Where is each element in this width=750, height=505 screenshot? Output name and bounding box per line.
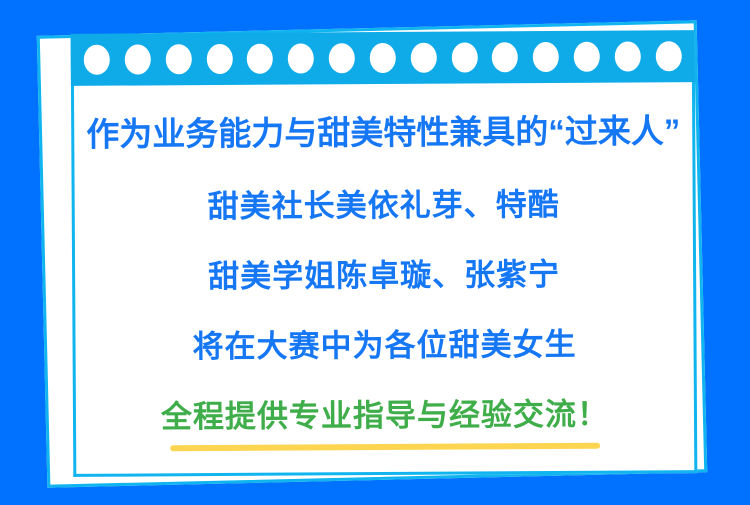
- punch-hole-icon: [329, 43, 355, 73]
- punch-hole-icon: [165, 44, 191, 74]
- card-text-body: 作为业务能力与甜美特性兼具的“过来人” 甜美社长美依礼芽、特酷 甜美学姐陈卓璇、…: [74, 85, 694, 474]
- card-header-strip: [71, 30, 695, 86]
- punch-hole-icon: [206, 44, 232, 74]
- highlight-underline: [170, 443, 600, 452]
- punch-hole-icon: [410, 43, 436, 73]
- headline-line-3: 甜美学姐陈卓璇、张紫宁: [75, 255, 693, 297]
- headline-line-2: 甜美社长美依礼芽、特酷: [75, 185, 693, 227]
- headline-line-4: 将在大赛中为各位甜美女生: [75, 325, 693, 367]
- punch-hole-icon: [247, 44, 273, 74]
- poster-canvas: 作为业务能力与甜美特性兼具的“过来人” 甜美社长美依礼芽、特酷 甜美学姐陈卓璇、…: [0, 0, 750, 505]
- punch-hole-icon: [84, 45, 110, 75]
- punch-hole-icon: [533, 42, 559, 72]
- headline-line-5-highlight: 全程提供专业指导与经验交流！: [76, 395, 694, 437]
- punch-hole-icon: [451, 42, 477, 72]
- punch-hole-icon: [288, 43, 314, 73]
- headline-line-1: 作为业务能力与甜美特性兼具的“过来人”: [74, 111, 692, 155]
- punch-hole-icon: [656, 41, 682, 71]
- front-paper-card: 作为业务能力与甜美特性兼具的“过来人” 甜美社长美依礼芽、特酷 甜美学姐陈卓璇、…: [71, 33, 698, 477]
- punch-hole-icon: [574, 42, 600, 72]
- punch-hole-icon: [370, 43, 396, 73]
- punch-hole-icon: [492, 42, 518, 72]
- punch-hole-icon: [615, 41, 641, 71]
- punch-hole-icon: [125, 44, 151, 74]
